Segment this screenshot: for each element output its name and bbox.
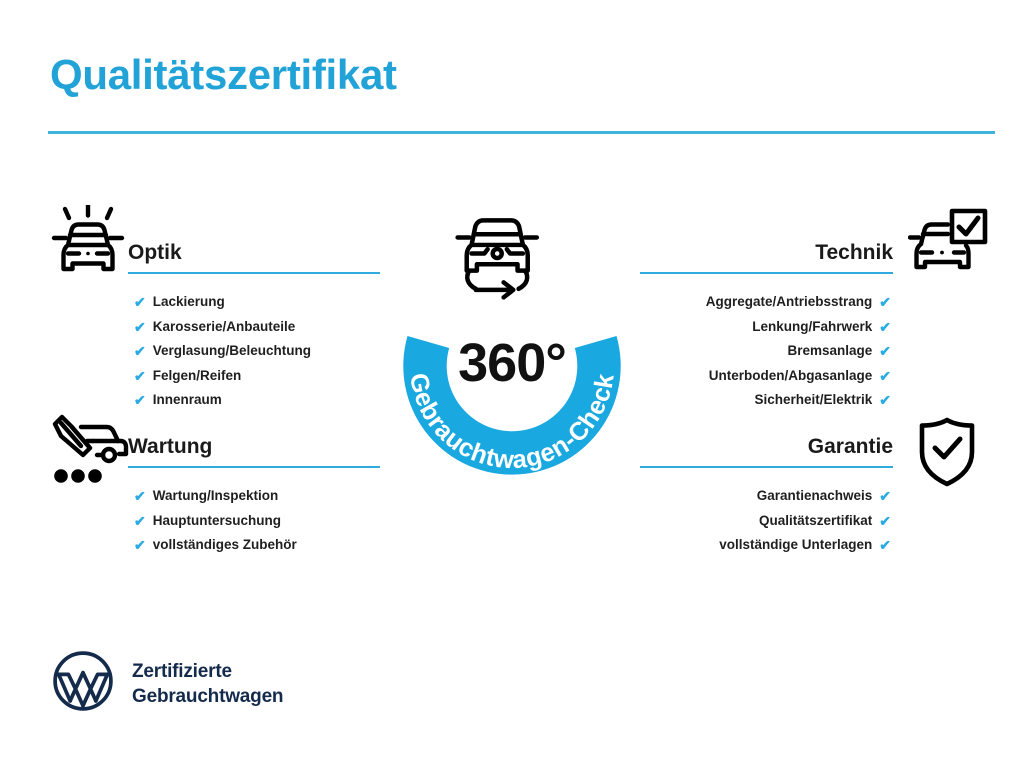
page-title: Qualitätszertifikat [50, 52, 397, 98]
section-garantie-divider [640, 466, 893, 468]
list-item: ✔Lackierung [134, 290, 380, 315]
list-item: Aggregate/Antriebsstrang✔ [640, 290, 891, 315]
list-item: ✔Karosserie/Anbauteile [134, 315, 380, 340]
car-checkbox-icon [908, 208, 988, 278]
section-wartung-head: Wartung [128, 432, 380, 472]
check-icon: ✔ [879, 369, 891, 383]
header-divider [48, 131, 995, 134]
section-technik-title: Technik [640, 238, 893, 268]
section-technik-list: Aggregate/Antriebsstrang✔ Lenkung/Fahrwe… [640, 290, 893, 413]
list-item: ✔Innenraum [134, 388, 380, 413]
list-item-label: Sicherheit/Elektrik [754, 388, 872, 413]
list-item-label: Lackierung [153, 290, 225, 315]
list-item: ✔Hauptuntersuchung [134, 509, 380, 534]
section-optik-title: Optik [128, 238, 380, 268]
section-garantie-head: Garantie [640, 432, 893, 472]
car-shine-icon [47, 205, 131, 281]
section-wartung-list: ✔Wartung/Inspektion ✔Hauptuntersuchung ✔… [128, 484, 380, 558]
check-icon: ✔ [134, 344, 146, 358]
check-icon: ✔ [134, 320, 146, 334]
list-item-label: Lenkung/Fahrwerk [752, 315, 872, 340]
list-item-label: Aggregate/Antriebsstrang [706, 290, 873, 315]
section-wartung-title: Wartung [128, 432, 380, 462]
list-item: Qualitätszertifikat✔ [640, 509, 891, 534]
list-item: Garantienachweis✔ [640, 484, 891, 509]
check-icon: ✔ [134, 369, 146, 383]
section-wartung-divider [128, 466, 380, 468]
shield-check-icon [916, 416, 978, 488]
check-icon: ✔ [879, 320, 891, 334]
list-item-label: vollständiges Zubehör [153, 533, 297, 558]
check-icon: ✔ [134, 538, 146, 552]
section-optik-head: Optik [128, 238, 380, 278]
badge-ring: Gebrauchtwagen-Check [372, 196, 652, 492]
footer-brand-line2: Gebrauchtwagen [132, 684, 283, 709]
list-item: Sicherheit/Elektrik✔ [640, 388, 891, 413]
badge-360-gebrauchtwagen-check: Gebrauchtwagen-Check 360° [372, 196, 652, 492]
list-item-label: vollständige Unterlagen [719, 533, 872, 558]
list-item-label: Felgen/Reifen [153, 364, 242, 389]
section-garantie-title: Garantie [640, 432, 893, 462]
check-icon: ✔ [879, 393, 891, 407]
footer-brand-text: Zertifizierte Gebrauchtwagen [132, 659, 283, 709]
section-garantie-list: Garantienachweis✔ Qualitätszertifikat✔ v… [640, 484, 893, 558]
list-item-label: Karosserie/Anbauteile [153, 315, 296, 340]
section-optik-list: ✔Lackierung ✔Karosserie/Anbauteile ✔Verg… [128, 290, 380, 413]
list-item-label: Innenraum [153, 388, 222, 413]
list-item-label: Verglasung/Beleuchtung [153, 339, 311, 364]
list-item-label: Unterboden/Abgasanlage [709, 364, 873, 389]
car-rotate-icon [458, 220, 537, 297]
section-technik: Technik Aggregate/Antriebsstrang✔ Lenkun… [640, 238, 893, 413]
list-item-label: Hauptuntersuchung [153, 509, 281, 534]
list-item-label: Bremsanlage [787, 339, 872, 364]
footer-brand: Zertifizierte Gebrauchtwagen [52, 650, 283, 717]
check-icon: ✔ [879, 489, 891, 503]
list-item: ✔Wartung/Inspektion [134, 484, 380, 509]
footer-brand-line1: Zertifizierte [132, 659, 283, 684]
check-icon: ✔ [134, 514, 146, 528]
check-icon: ✔ [879, 295, 891, 309]
check-icon: ✔ [879, 514, 891, 528]
section-garantie: Garantie Garantienachweis✔ Qualitätszert… [640, 432, 893, 558]
list-item: Bremsanlage✔ [640, 339, 891, 364]
wrench-car-icon [47, 414, 131, 490]
check-icon: ✔ [134, 295, 146, 309]
check-icon: ✔ [134, 393, 146, 407]
list-item: Unterboden/Abgasanlage✔ [640, 364, 891, 389]
section-technik-divider [640, 272, 893, 274]
list-item: ✔vollständiges Zubehör [134, 533, 380, 558]
list-item: Lenkung/Fahrwerk✔ [640, 315, 891, 340]
list-item-label: Qualitätszertifikat [759, 509, 872, 534]
check-icon: ✔ [134, 489, 146, 503]
vw-logo [52, 650, 114, 717]
list-item: ✔Felgen/Reifen [134, 364, 380, 389]
list-item-label: Wartung/Inspektion [153, 484, 279, 509]
check-icon: ✔ [879, 538, 891, 552]
section-optik: Optik ✔Lackierung ✔Karosserie/Anbauteile… [128, 238, 380, 413]
list-item: ✔Verglasung/Beleuchtung [134, 339, 380, 364]
section-wartung: Wartung ✔Wartung/Inspektion ✔Hauptunters… [128, 432, 380, 558]
section-technik-head: Technik [640, 238, 893, 278]
list-item-label: Garantienachweis [757, 484, 873, 509]
list-item: vollständige Unterlagen✔ [640, 533, 891, 558]
section-optik-divider [128, 272, 380, 274]
check-icon: ✔ [879, 344, 891, 358]
